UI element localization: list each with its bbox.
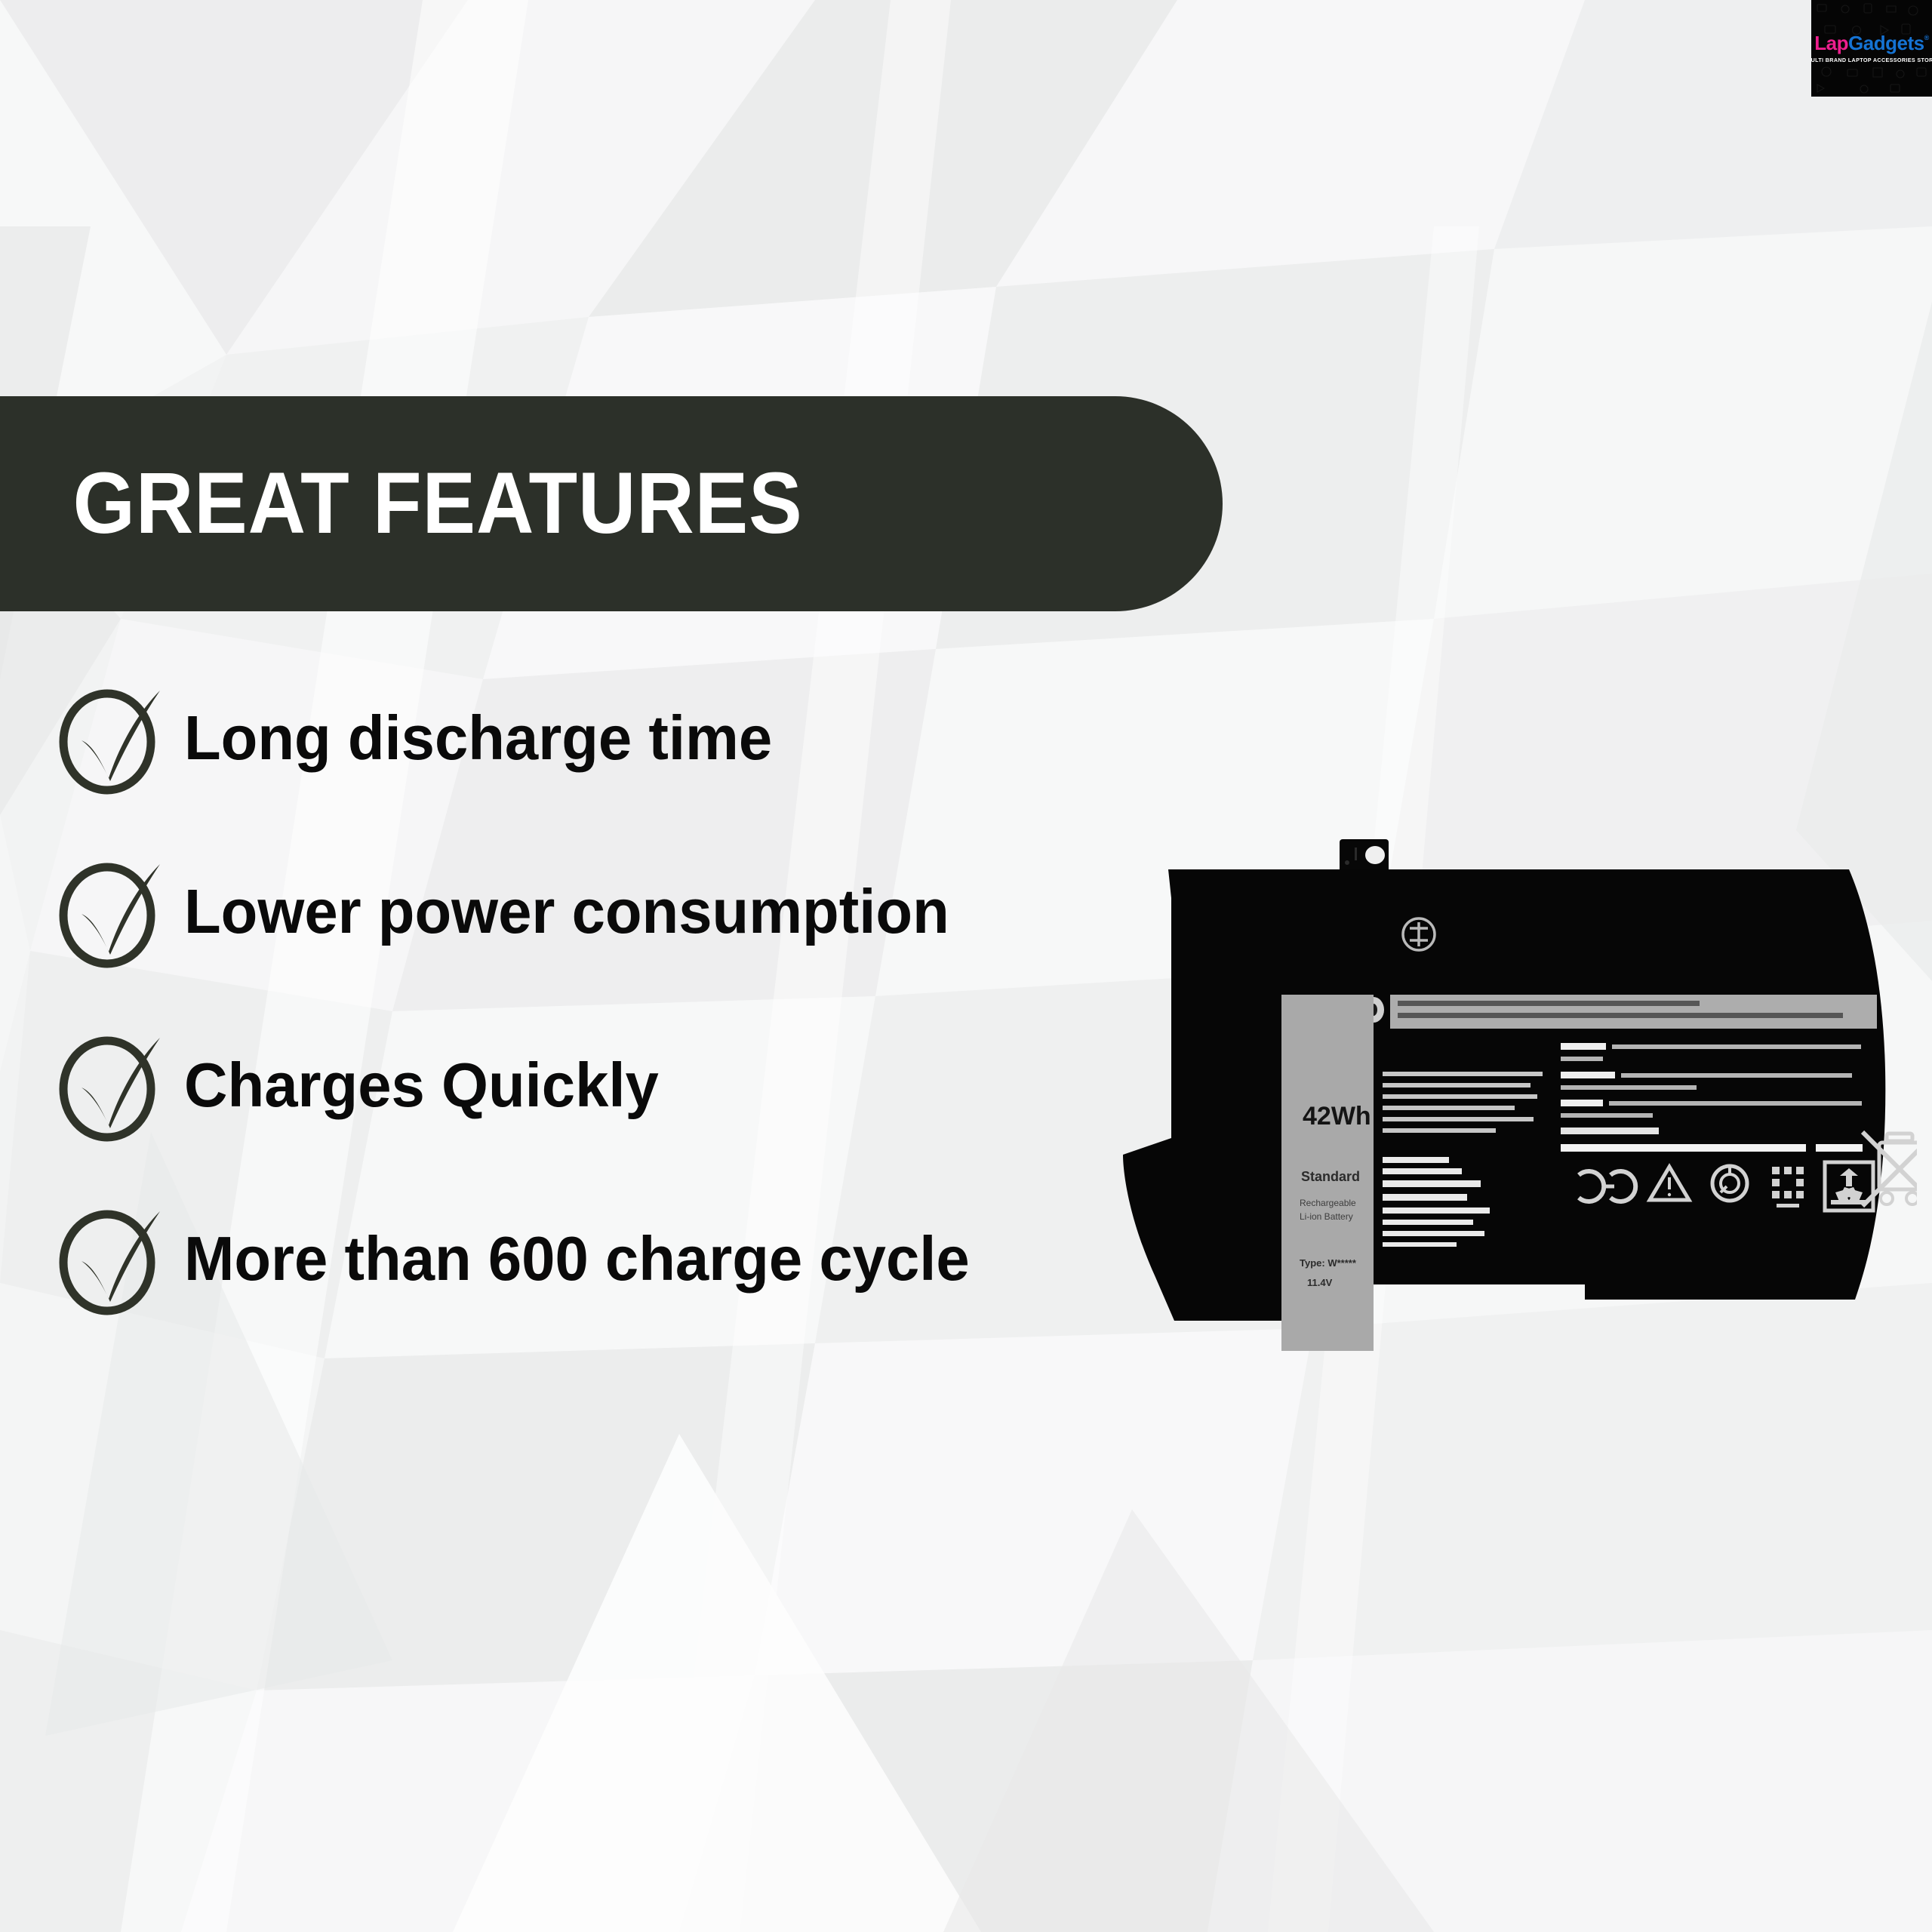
- feature-item-2: Charges Quickly: [53, 1026, 1147, 1143]
- feature-label-2: Charges Quickly: [184, 1054, 659, 1116]
- battery-label-line-1: Standard: [1301, 1169, 1360, 1184]
- feature-label-1: Lower power consumption: [184, 880, 949, 943]
- logo-registered-mark: ®: [1924, 35, 1929, 42]
- feature-list: Long discharge time Lower power consumpt…: [53, 679, 1147, 1374]
- battery-spec-label: 42Wh Standard Rechargeable Li-ion Batter…: [1281, 995, 1374, 1351]
- battery-warning-banner: [1390, 995, 1877, 1029]
- header-banner: GREAT FEATURES: [0, 396, 1223, 611]
- check-circle-icon: [53, 855, 181, 968]
- feature-item-3: More than 600 charge cycle: [53, 1200, 1147, 1317]
- page-title: GREAT FEATURES: [0, 460, 803, 547]
- check-circle-icon: [53, 1029, 181, 1142]
- feature-label-0: Long discharge time: [184, 706, 772, 769]
- logo-text-lap: Lap: [1814, 33, 1848, 53]
- check-circle-icon: [53, 681, 181, 795]
- feature-label-3: More than 600 charge cycle: [184, 1227, 970, 1290]
- logo-text-gadgets: Gadgets: [1848, 33, 1924, 53]
- check-circle-icon: [53, 1202, 181, 1315]
- feature-item-1: Lower power consumption: [53, 853, 1147, 970]
- battery-label-line-2: Rechargeable: [1300, 1198, 1356, 1208]
- brand-logo-badge: LapGadgets® MULTI BRAND LAPTOP ACCESSORI…: [1811, 0, 1932, 97]
- logo-wordmark: LapGadgets®: [1814, 33, 1928, 53]
- product-image-battery: 42Wh Standard Rechargeable Li-ion Batter…: [1109, 823, 1917, 1351]
- logo-tagline: MULTI BRAND LAPTOP ACCESSORIES STORE: [1811, 57, 1932, 63]
- battery-label-voltage: 11.4V: [1307, 1277, 1333, 1288]
- battery-capacity-text: 42Wh: [1303, 1102, 1371, 1131]
- battery-label-line-3: Li-ion Battery: [1300, 1211, 1353, 1222]
- feature-item-0: Long discharge time: [53, 679, 1147, 796]
- battery-label-type: Type: W*****: [1300, 1257, 1357, 1269]
